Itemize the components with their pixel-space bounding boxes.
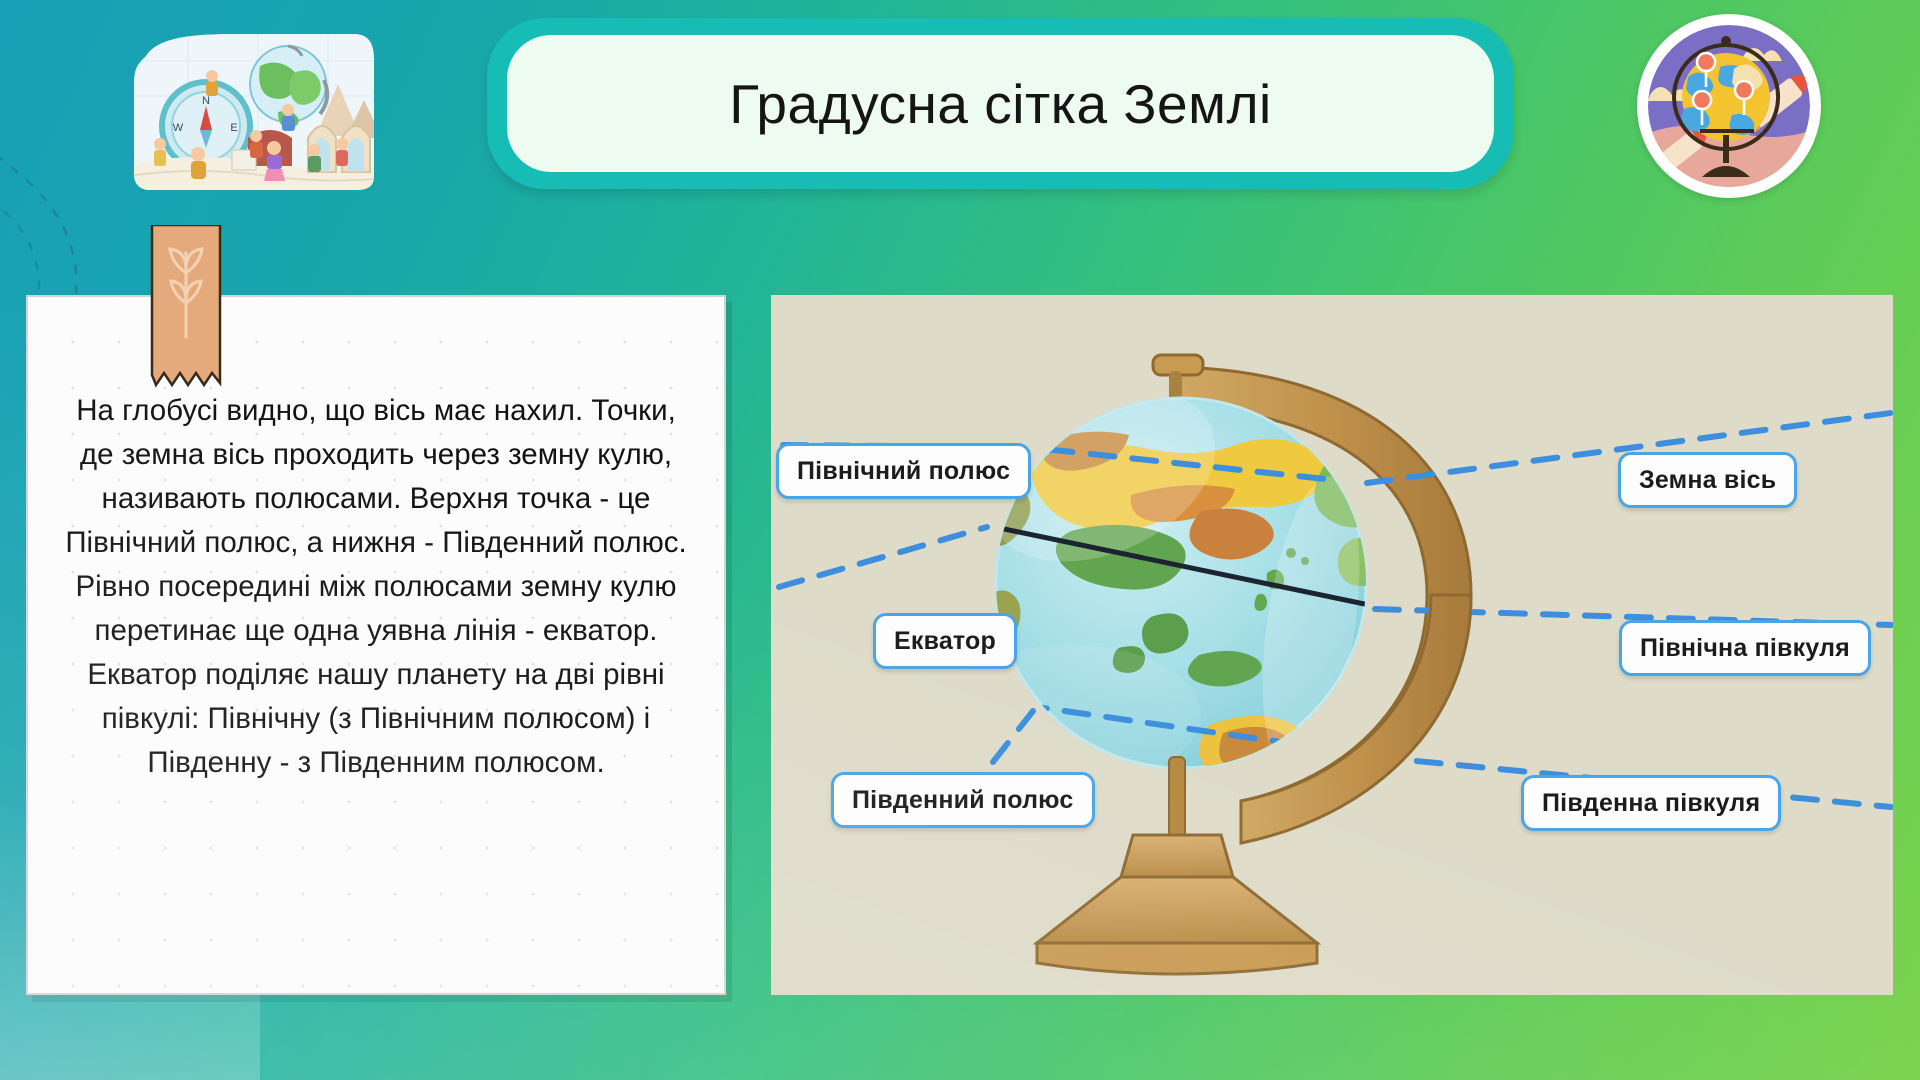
- svg-text:N: N: [202, 95, 210, 107]
- label-earth-axis-text: Земна вісь: [1639, 466, 1776, 495]
- label-southern-hemisphere[interactable]: Південна півкуля: [1521, 775, 1781, 831]
- svg-text:E: E: [230, 122, 237, 134]
- slide-background: N W E: [0, 0, 1920, 1080]
- label-south-pole-text: Південний полюс: [852, 786, 1074, 815]
- slide-title-banner: Градусна сітка Землі: [487, 18, 1514, 189]
- bookmark-ribbon-icon: [148, 225, 224, 407]
- label-equator[interactable]: Екватор: [873, 613, 1017, 669]
- globe-diagram-panel: Північний полюс Екватор Південний полюс …: [771, 295, 1893, 995]
- label-northern-hemisphere[interactable]: Північна півкуля: [1619, 620, 1871, 676]
- svg-text:W: W: [173, 122, 184, 134]
- label-northern-hemisphere-text: Північна півкуля: [1640, 634, 1850, 663]
- label-south-pole[interactable]: Південний полюс: [831, 772, 1095, 828]
- label-earth-axis[interactable]: Земна вісь: [1618, 452, 1797, 508]
- slide-title-inner: Градусна сітка Землі: [507, 35, 1494, 172]
- compass-children-globe-illustration: N W E: [128, 26, 386, 196]
- label-north-pole-text: Північний полюс: [797, 457, 1010, 486]
- explanation-note-card: На глобусі видно, що вісь має нахил. Точ…: [26, 295, 726, 995]
- label-north-pole[interactable]: Північний полюс: [776, 443, 1031, 499]
- label-southern-hemisphere-text: Південна півкуля: [1542, 789, 1760, 818]
- globe-map-pins-badge-icon: [1637, 14, 1821, 198]
- badge-artwork: [1648, 25, 1810, 187]
- page-title: Градусна сітка Землі: [729, 72, 1272, 136]
- explanation-text: На глобусі видно, що вісь має нахил. Точ…: [64, 389, 688, 785]
- label-equator-text: Екватор: [894, 627, 996, 656]
- dashed-swoosh-decoration: [0, 150, 140, 310]
